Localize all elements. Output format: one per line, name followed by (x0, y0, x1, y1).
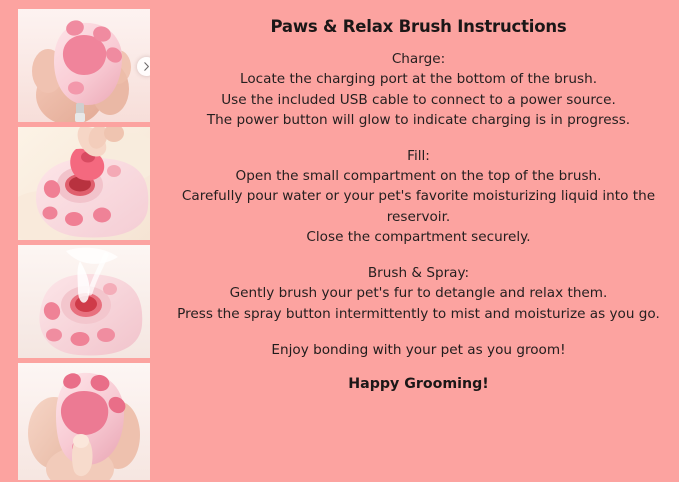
product-photo-opening-compartment (18, 127, 150, 240)
instruction-line: Gently brush your pet's fur to detangle … (166, 283, 671, 303)
chevron-right-icon (142, 62, 150, 71)
product-photo-filling-reservoir (18, 245, 150, 358)
instruction-line: The power button will glow to indicate c… (166, 110, 671, 130)
section-heading-charge: Charge: (166, 49, 671, 69)
signoff-text: Happy Grooming! (166, 374, 671, 394)
gallery-thumbnail-1[interactable] (18, 9, 150, 122)
section-heading-fill: Fill: (166, 146, 671, 166)
instruction-line: Locate the charging port at the bottom o… (166, 69, 671, 89)
instruction-line: Press the spray button intermittently to… (166, 304, 671, 324)
product-instructions-page: Paws & Relax Brush Instructions Charge: … (0, 0, 679, 482)
closing-line: Enjoy bonding with your pet as you groom… (166, 340, 671, 360)
product-photo-pressing-spray-button (18, 363, 150, 480)
section-heading-brush-spray: Brush & Spray: (166, 263, 671, 283)
instruction-line: Carefully pour water or your pet's favor… (166, 186, 671, 226)
instruction-section-charge: Charge: Locate the charging port at the … (166, 49, 671, 130)
instructions-panel: Paws & Relax Brush Instructions Charge: … (166, 16, 671, 394)
instruction-section-brush-spray: Brush & Spray: Gently brush your pet's f… (166, 263, 671, 324)
gallery-thumbnail-2[interactable] (18, 127, 150, 240)
gallery-next-button[interactable] (137, 57, 150, 76)
gallery-thumbnail-3[interactable] (18, 245, 150, 358)
product-image-gallery (18, 9, 150, 482)
instruction-line: Close the compartment securely. (166, 227, 671, 247)
instruction-line: Open the small compartment on the top of… (166, 166, 671, 186)
instruction-line: Use the included USB cable to connect to… (166, 90, 671, 110)
gallery-thumbnail-4[interactable] (18, 363, 150, 480)
instruction-section-fill: Fill: Open the small compartment on the … (166, 146, 671, 247)
product-photo-held-in-hand (18, 9, 150, 122)
page-title: Paws & Relax Brush Instructions (166, 16, 671, 38)
